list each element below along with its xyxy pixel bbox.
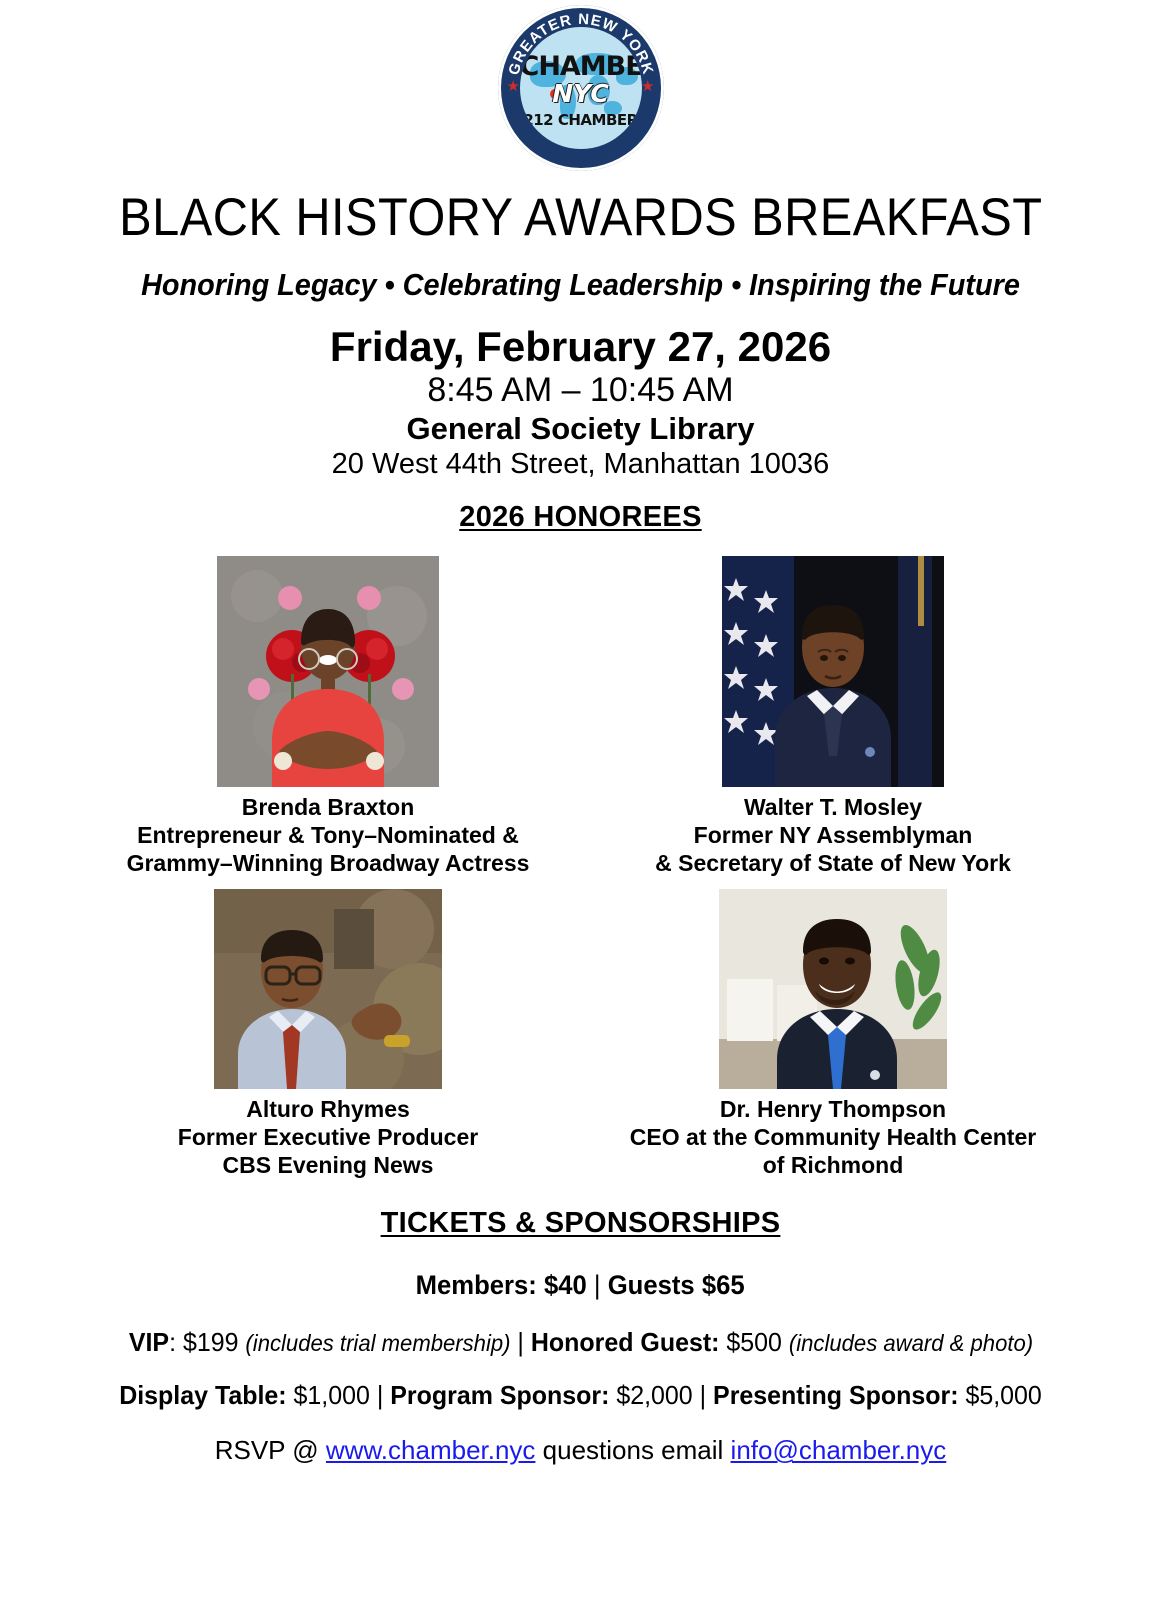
honoree-card: Alturo Rhymes Former Executive Producer … bbox=[76, 889, 581, 1179]
event-address: 20 West 44th Street, Manhattan 10036 bbox=[332, 449, 830, 481]
honoree-name: Walter T. Mosley bbox=[655, 793, 1011, 821]
price-separator: | bbox=[700, 1380, 706, 1410]
honorees-heading: 2026 HONOREES bbox=[459, 501, 701, 534]
display-table-label: Display Table: bbox=[119, 1380, 286, 1410]
honored-guest-price: $500 bbox=[719, 1327, 781, 1357]
event-date: Friday, February 27, 2026 bbox=[330, 323, 831, 370]
vip-note: (includes trial membership) bbox=[245, 1330, 510, 1356]
rsvp-prefix: RSVP @ bbox=[215, 1435, 326, 1465]
honoree-card: Brenda Braxton Entrepreneur & Tony–Nomin… bbox=[76, 556, 581, 877]
presenting-sponsor-price: $5,000 bbox=[959, 1380, 1042, 1410]
honoree-title-line-1: Former Executive Producer bbox=[178, 1123, 478, 1151]
program-sponsor-label: Program Sponsor: bbox=[390, 1380, 609, 1410]
honoree-title-line-1: Entrepreneur & Tony–Nominated & bbox=[127, 821, 530, 849]
sponsor-tiers-line: Display Table: $1,000 | Program Sponsor:… bbox=[119, 1380, 1042, 1411]
honoree-title-line-2: CBS Evening News bbox=[178, 1151, 478, 1179]
honoree-photo-brenda-braxton bbox=[217, 556, 439, 787]
honoree-photo-walter-mosley bbox=[722, 556, 944, 787]
honoree-caption: Brenda Braxton Entrepreneur & Tony–Nomin… bbox=[127, 793, 530, 877]
rsvp-line: RSVP @ www.chamber.nyc questions email i… bbox=[215, 1435, 947, 1466]
tagline: Honoring Legacy • Celebrating Leadership… bbox=[141, 267, 1020, 303]
event-venue: General Society Library bbox=[406, 412, 754, 446]
vip-price: : $199 bbox=[169, 1327, 238, 1357]
honoree-card: Walter T. Mosley Former NY Assemblyman &… bbox=[581, 556, 1086, 877]
honoree-title-line-1: CEO at the Community Health Center bbox=[630, 1123, 1036, 1151]
presenting-sponsor-label: Presenting Sponsor: bbox=[713, 1380, 958, 1410]
members-label: Members: bbox=[416, 1270, 537, 1300]
page-title: BLACK HISTORY AWARDS BREAKFAST bbox=[119, 190, 1042, 246]
guests-price: $65 bbox=[702, 1270, 745, 1300]
seal-icon: GREATER NEW YORK CHAMBER OF COMMERCE CHA… bbox=[498, 5, 664, 171]
honoree-name: Brenda Braxton bbox=[127, 793, 530, 821]
seal-212-chamber-text: 212 CHAMBER bbox=[520, 113, 642, 128]
members-guests-price-line: Members: $40 | Guests $65 bbox=[416, 1270, 745, 1301]
program-sponsor-price: $2,000 bbox=[609, 1380, 692, 1410]
seal-nyc-text: NYC bbox=[520, 81, 642, 106]
website-link[interactable]: www.chamber.nyc bbox=[326, 1435, 536, 1465]
honored-guest-label: Honored Guest: bbox=[530, 1327, 719, 1357]
honoree-caption: Alturo Rhymes Former Executive Producer … bbox=[178, 1095, 478, 1179]
price-separator: | bbox=[517, 1327, 523, 1357]
honoree-card: Dr. Henry Thompson CEO at the Community … bbox=[581, 889, 1086, 1179]
tickets-heading: TICKETS & SPONSORSHIPS bbox=[381, 1207, 781, 1240]
vip-honored-price-line: VIP: $199 (includes trial membership) | … bbox=[128, 1327, 1032, 1358]
star-left-icon: ★ bbox=[507, 79, 520, 94]
vip-label: VIP bbox=[128, 1327, 168, 1357]
members-price: $40 bbox=[544, 1270, 587, 1300]
honoree-title-line-2: of Richmond bbox=[630, 1151, 1036, 1179]
chamber-logo: GREATER NEW YORK CHAMBER OF COMMERCE CHA… bbox=[481, 4, 681, 172]
display-table-price: $1,000 bbox=[287, 1380, 370, 1410]
honoree-photo-alturo-rhymes bbox=[214, 889, 442, 1089]
honored-guest-note: (includes award & photo) bbox=[788, 1330, 1032, 1356]
honoree-name: Alturo Rhymes bbox=[178, 1095, 478, 1123]
star-right-icon: ★ bbox=[641, 79, 654, 94]
honoree-title-line-1: Former NY Assemblyman bbox=[655, 821, 1011, 849]
email-link[interactable]: info@chamber.nyc bbox=[731, 1435, 947, 1465]
honoree-caption: Dr. Henry Thompson CEO at the Community … bbox=[630, 1095, 1036, 1179]
rsvp-middle: questions email bbox=[535, 1435, 730, 1465]
honorees-grid: Brenda Braxton Entrepreneur & Tony–Nomin… bbox=[76, 556, 1086, 1179]
honoree-caption: Walter T. Mosley Former NY Assemblyman &… bbox=[655, 793, 1011, 877]
seal-globe: CHAMBER NYC 212 CHAMBER bbox=[520, 27, 642, 149]
price-separator: | bbox=[377, 1380, 383, 1410]
price-separator: | bbox=[594, 1270, 601, 1300]
guests-label: Guests bbox=[608, 1270, 695, 1300]
honoree-photo-henry-thompson bbox=[719, 889, 947, 1089]
flyer-page: GREATER NEW YORK CHAMBER OF COMMERCE CHA… bbox=[0, 0, 1161, 1597]
honoree-title-line-2: & Secretary of State of New York bbox=[655, 849, 1011, 877]
event-time: 8:45 AM – 10:45 AM bbox=[427, 372, 733, 409]
honoree-title-line-2: Grammy–Winning Broadway Actress bbox=[127, 849, 530, 877]
seal-chamber-text: CHAMBER bbox=[520, 53, 642, 80]
honoree-name: Dr. Henry Thompson bbox=[630, 1095, 1036, 1123]
